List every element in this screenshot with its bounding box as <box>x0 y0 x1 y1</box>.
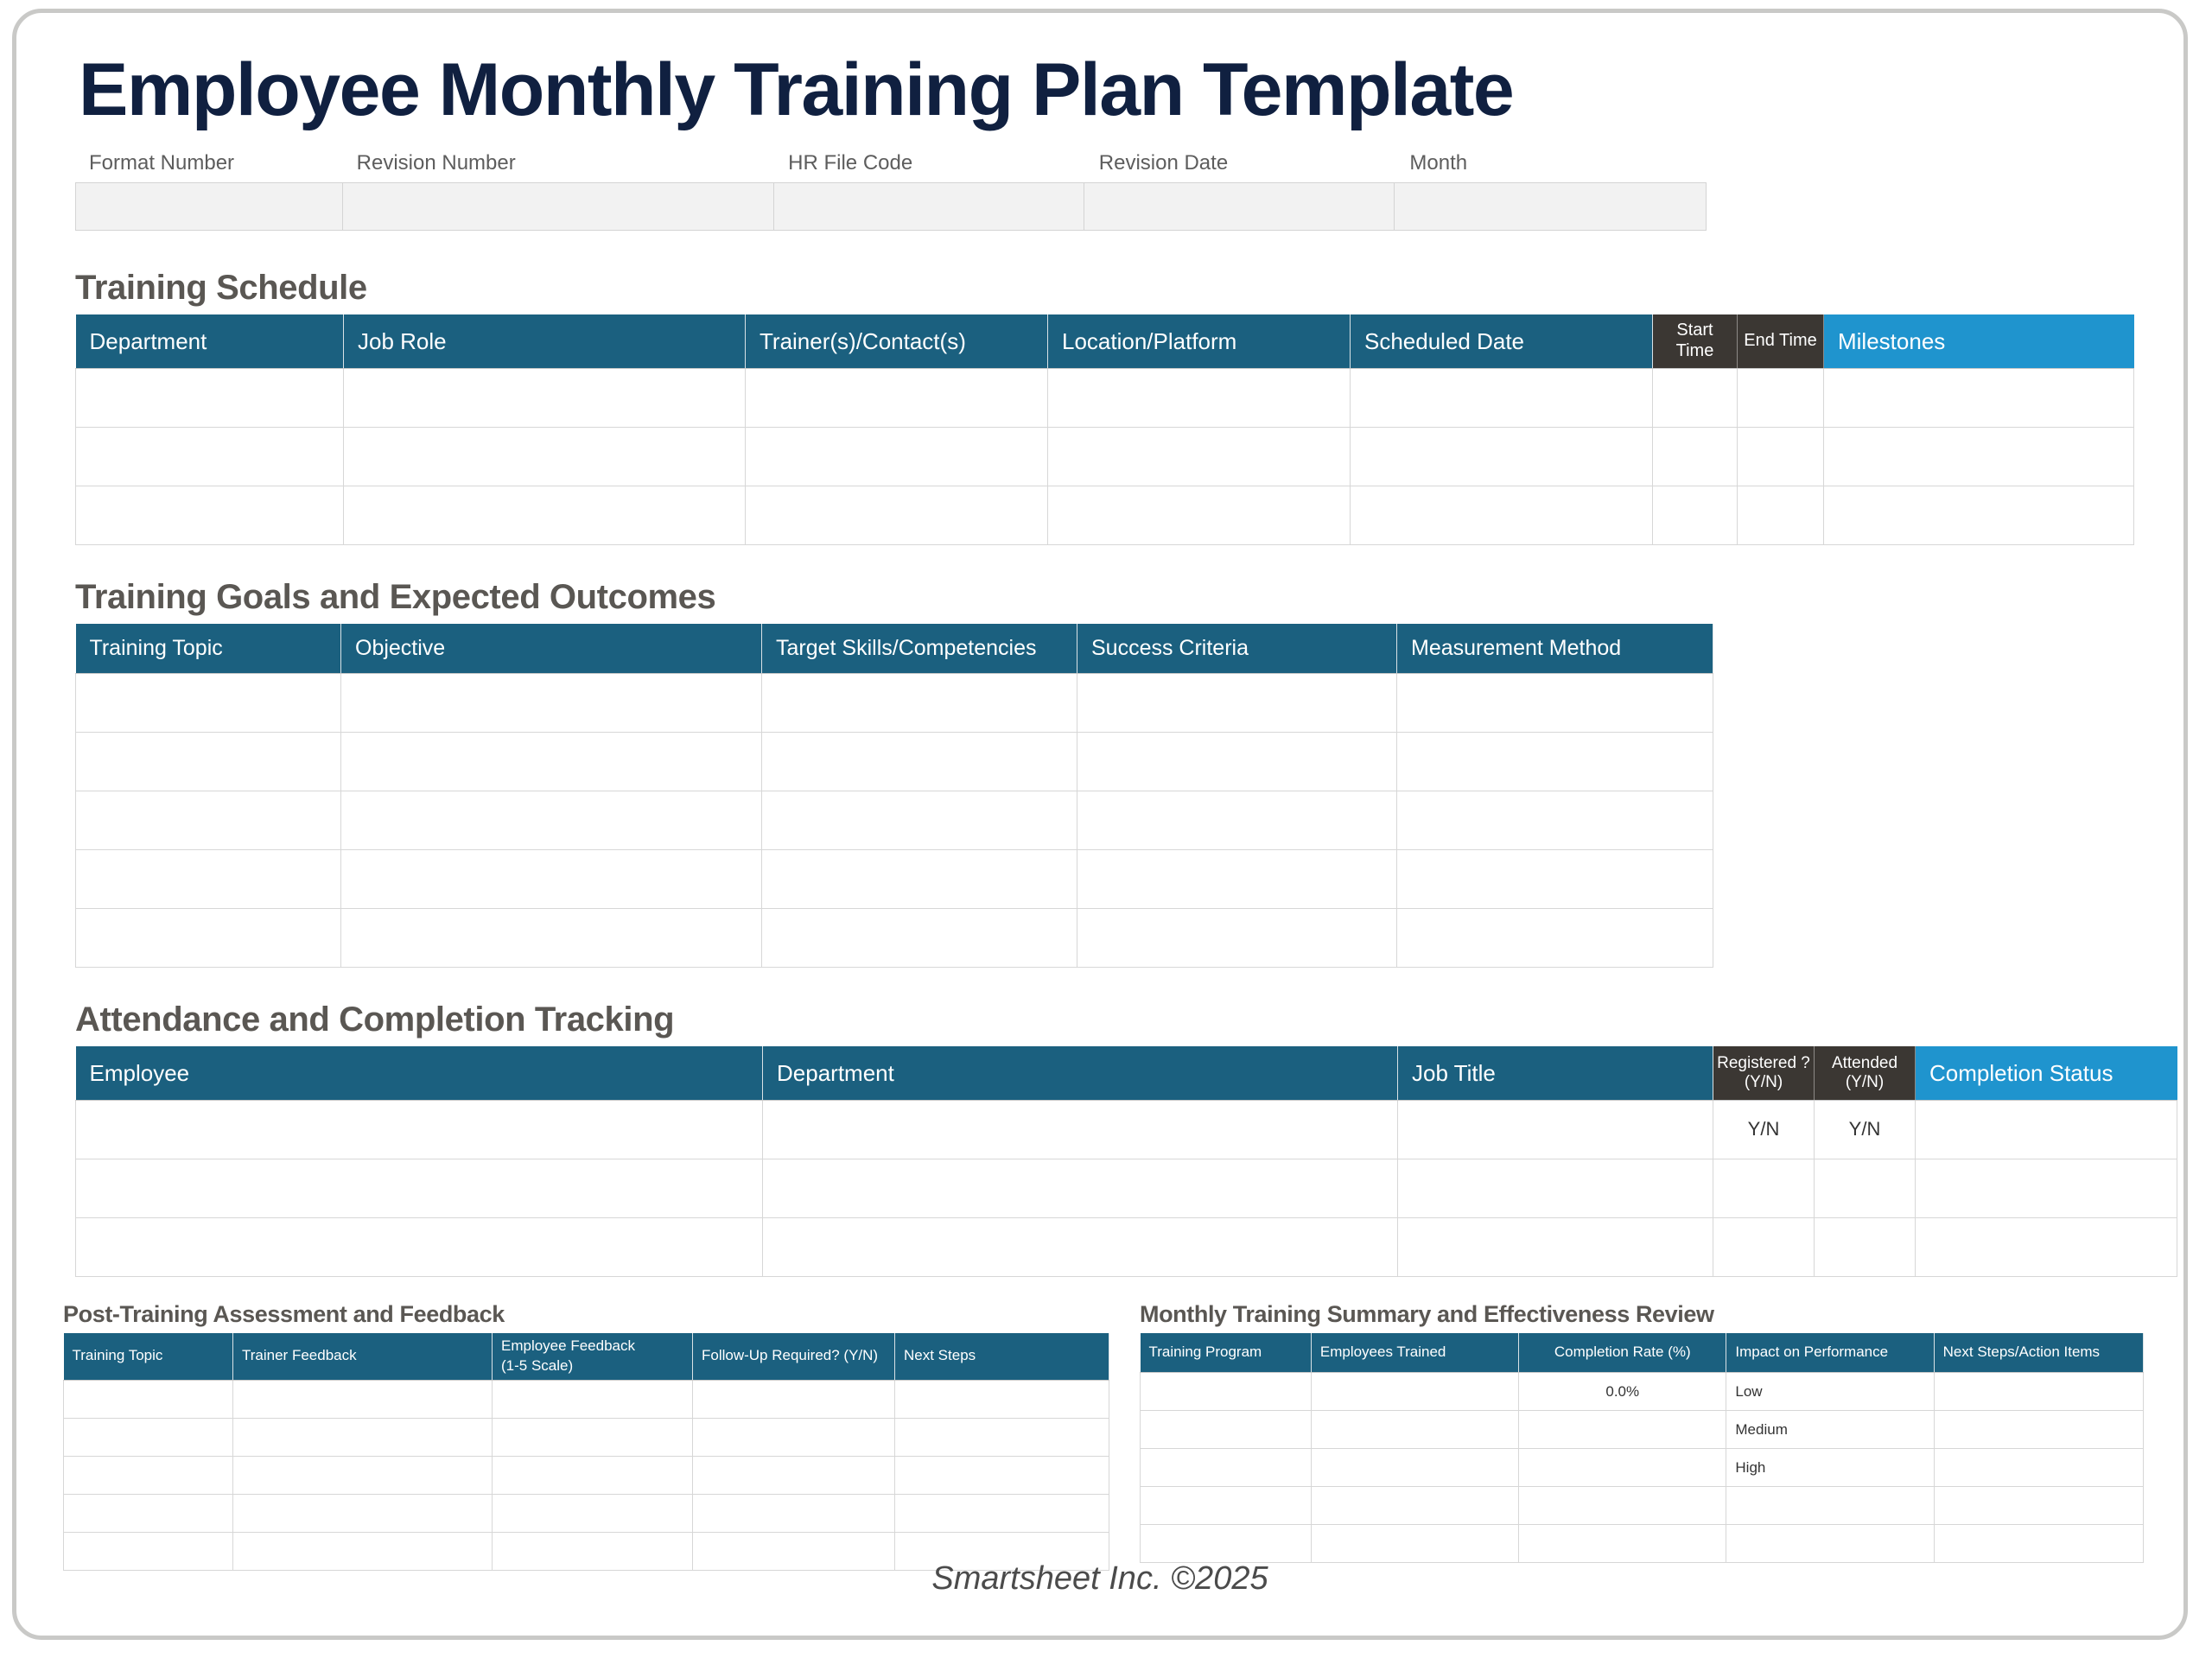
cell[interactable] <box>1077 733 1397 791</box>
monthly-summary-table: Training Program Employees Trained Compl… <box>1140 1333 2144 1564</box>
meta-input-month[interactable] <box>1394 182 1707 231</box>
training-schedule-header-row: Department Job Role Trainer(s)/Contact(s… <box>76 314 2134 368</box>
cell[interactable] <box>64 1456 233 1494</box>
monthly-summary-header-row: Training Program Employees Trained Compl… <box>1141 1333 2144 1373</box>
col-next-steps[interactable]: Next Steps <box>895 1333 1109 1380</box>
cell[interactable] <box>1311 1373 1518 1411</box>
cell[interactable] <box>64 1380 233 1418</box>
cell[interactable] <box>1713 1159 1815 1217</box>
col-milestones[interactable]: Milestones <box>1824 314 2134 368</box>
cell[interactable] <box>341 791 762 850</box>
table-row <box>76 1159 2177 1217</box>
cell[interactable] <box>1398 1159 1713 1217</box>
cell[interactable] <box>1738 486 1824 544</box>
cell[interactable] <box>76 791 341 850</box>
cell-impact-value[interactable]: Low <box>1726 1373 1934 1411</box>
training-goals-table: Training Topic Objective Target Skills/C… <box>75 624 1713 969</box>
monthly-summary-section: Monthly Training Summary and Effectivene… <box>1140 1301 2144 1571</box>
bottom-tables-row: Post-Training Assessment and Feedback Tr… <box>63 1301 2144 1571</box>
cell-impact-value[interactable]: High <box>1726 1449 1934 1487</box>
cell[interactable] <box>1141 1487 1312 1525</box>
col-end-time[interactable]: End Time <box>1738 314 1824 368</box>
table-header-row: Training Program Employees Trained Compl… <box>1141 1333 2144 1373</box>
cell[interactable] <box>1934 1373 2143 1411</box>
col-completion-status[interactable]: Completion Status <box>1916 1046 2177 1100</box>
cell[interactable] <box>1653 486 1738 544</box>
cell[interactable] <box>64 1418 233 1456</box>
cell[interactable] <box>1398 1217 1713 1276</box>
cell[interactable] <box>762 850 1077 909</box>
meta-field-labels: Format Number Revision Number HR File Co… <box>75 151 1708 175</box>
cell-completion-rate-value[interactable]: 0.0% <box>1519 1373 1726 1411</box>
col-employee-feedback[interactable]: Employee Feedback (1-5 Scale) <box>493 1333 693 1380</box>
col-start-time[interactable]: Start Time <box>1653 314 1738 368</box>
section-heading-monthly-summary: Monthly Training Summary and Effectivene… <box>1140 1301 2144 1328</box>
cell[interactable] <box>76 1159 763 1217</box>
cell[interactable] <box>1713 1217 1815 1276</box>
col-employees-trained[interactable]: Employees Trained <box>1311 1333 1518 1373</box>
col-registered-yn[interactable]: Registered ? (Y/N) <box>1713 1046 1815 1100</box>
cell[interactable] <box>763 1100 1398 1159</box>
cell[interactable] <box>1048 486 1351 544</box>
cell[interactable] <box>1815 1159 1916 1217</box>
cell[interactable] <box>1311 1449 1518 1487</box>
cell[interactable] <box>1519 1487 1726 1525</box>
table-row <box>64 1494 1109 1532</box>
cell[interactable] <box>1398 1100 1713 1159</box>
section-heading-attendance: Attendance and Completion Tracking <box>75 1001 2144 1039</box>
training-schedule-body <box>76 368 2134 544</box>
cell[interactable] <box>1077 909 1397 968</box>
col-department[interactable]: Department <box>763 1046 1398 1100</box>
table-row <box>76 791 1713 850</box>
cell[interactable] <box>233 1456 493 1494</box>
post-training-body <box>64 1380 1109 1570</box>
meta-field-inputs <box>75 182 1708 231</box>
col-scheduled-date[interactable]: Scheduled Date <box>1351 314 1653 368</box>
document-page: Employee Monthly Training Plan Template … <box>12 9 2188 1640</box>
cell[interactable] <box>76 1100 763 1159</box>
cell[interactable] <box>762 909 1077 968</box>
table-row <box>76 486 2134 544</box>
cell[interactable] <box>493 1456 693 1494</box>
cell[interactable] <box>1397 674 1713 733</box>
cell[interactable] <box>895 1456 1109 1494</box>
cell[interactable] <box>746 427 1048 486</box>
cell[interactable] <box>493 1494 693 1532</box>
table-header-row: Training Topic Trainer Feedback Employee… <box>64 1333 1109 1380</box>
meta-fields: Format Number Revision Number HR File Co… <box>75 151 1708 231</box>
cell-attended-value[interactable]: Y/N <box>1815 1100 1916 1159</box>
cell[interactable] <box>1141 1373 1312 1411</box>
cell[interactable] <box>493 1418 693 1456</box>
col-impact-on-performance[interactable]: Impact on Performance <box>1726 1333 1934 1373</box>
col-department[interactable]: Department <box>76 314 344 368</box>
cell[interactable] <box>1351 368 1653 427</box>
meta-label-revision-number: Revision Number <box>343 151 774 175</box>
cell[interactable] <box>895 1418 1109 1456</box>
cell[interactable] <box>1141 1411 1312 1449</box>
cell[interactable] <box>895 1380 1109 1418</box>
cell[interactable] <box>1077 791 1397 850</box>
cell[interactable] <box>344 368 746 427</box>
cell[interactable] <box>1519 1411 1726 1449</box>
cell[interactable] <box>1934 1449 2143 1487</box>
meta-label-month: Month <box>1395 151 1708 175</box>
cell[interactable] <box>341 733 762 791</box>
post-training-table: Training Topic Trainer Feedback Employee… <box>63 1333 1109 1571</box>
attendance-header-row: Employee Department Job Title Registered… <box>76 1046 2177 1100</box>
cell[interactable] <box>1397 850 1713 909</box>
post-training-header-row: Training Topic Trainer Feedback Employee… <box>64 1333 1109 1380</box>
cell[interactable] <box>76 427 344 486</box>
col-success-criteria[interactable]: Success Criteria <box>1077 624 1397 674</box>
cell[interactable] <box>76 674 341 733</box>
cell[interactable] <box>1934 1525 2143 1563</box>
table-header-row: Training Topic Objective Target Skills/C… <box>76 624 1713 674</box>
col-training-program[interactable]: Training Program <box>1141 1333 1312 1373</box>
cell[interactable] <box>233 1380 493 1418</box>
section-heading-training-schedule: Training Schedule <box>75 269 2144 308</box>
cell[interactable] <box>1311 1525 1518 1563</box>
cell[interactable] <box>1738 368 1824 427</box>
cell[interactable] <box>693 1380 895 1418</box>
cell[interactable] <box>1738 427 1824 486</box>
col-target-skills[interactable]: Target Skills/Competencies <box>762 624 1077 674</box>
cell[interactable] <box>344 427 746 486</box>
meta-input-format-number[interactable] <box>75 182 343 231</box>
cell[interactable] <box>341 850 762 909</box>
cell[interactable] <box>76 1217 763 1276</box>
cell[interactable] <box>1934 1411 2143 1449</box>
cell[interactable] <box>762 791 1077 850</box>
cell[interactable] <box>493 1380 693 1418</box>
cell[interactable] <box>762 733 1077 791</box>
cell[interactable] <box>1397 909 1713 968</box>
cell[interactable] <box>1351 486 1653 544</box>
cell[interactable] <box>1824 486 2134 544</box>
cell[interactable] <box>1077 850 1397 909</box>
cell[interactable] <box>76 909 341 968</box>
cell[interactable] <box>1726 1487 1934 1525</box>
meta-label-format-number: Format Number <box>75 151 343 175</box>
monthly-summary-body: 0.0% Low Medium <box>1141 1373 2144 1563</box>
table-row <box>1141 1525 2144 1563</box>
section-heading-training-goals: Training Goals and Expected Outcomes <box>75 578 2144 617</box>
cell[interactable] <box>76 850 341 909</box>
cell[interactable] <box>1351 427 1653 486</box>
table-row <box>76 427 2134 486</box>
col-training-topic[interactable]: Training Topic <box>64 1333 233 1380</box>
cell[interactable] <box>76 486 344 544</box>
meta-label-hr-file-code: HR File Code <box>774 151 1085 175</box>
cell[interactable] <box>1916 1100 2177 1159</box>
page-title: Employee Monthly Training Plan Template <box>79 51 2144 129</box>
cell[interactable] <box>1519 1449 1726 1487</box>
table-header-row: Employee Department Job Title Registered… <box>76 1046 2177 1100</box>
cell[interactable] <box>1397 733 1713 791</box>
cell[interactable] <box>1141 1525 1312 1563</box>
col-job-title[interactable]: Job Title <box>1398 1046 1713 1100</box>
cell[interactable] <box>746 368 1048 427</box>
cell[interactable] <box>1519 1525 1726 1563</box>
training-goals-header-row: Training Topic Objective Target Skills/C… <box>76 624 1713 674</box>
page-content: Employee Monthly Training Plan Template … <box>16 13 2183 1636</box>
cell[interactable] <box>1048 427 1351 486</box>
meta-input-revision-number[interactable] <box>342 182 774 231</box>
col-training-topic[interactable]: Training Topic <box>76 624 341 674</box>
cell[interactable] <box>693 1418 895 1456</box>
cell[interactable] <box>233 1494 493 1532</box>
table-row: Medium <box>1141 1411 2144 1449</box>
table-row <box>64 1456 1109 1494</box>
table-row <box>76 909 1713 968</box>
footer-copyright: Smartsheet Inc. ©2025 <box>16 1560 2183 1598</box>
table-row <box>76 674 1713 733</box>
cell[interactable] <box>1077 674 1397 733</box>
col-objective[interactable]: Objective <box>341 624 762 674</box>
cell-registered-value[interactable]: Y/N <box>1713 1100 1815 1159</box>
cell[interactable] <box>693 1456 895 1494</box>
cell[interactable] <box>1653 368 1738 427</box>
cell[interactable] <box>1934 1487 2143 1525</box>
cell[interactable] <box>341 674 762 733</box>
table-row <box>76 368 2134 427</box>
cell[interactable] <box>1916 1159 2177 1217</box>
cell-impact-value[interactable]: Medium <box>1726 1411 1934 1449</box>
col-job-role[interactable]: Job Role <box>344 314 746 368</box>
cell[interactable] <box>1916 1217 2177 1276</box>
cell[interactable] <box>1311 1411 1518 1449</box>
attendance-table: Employee Department Job Title Registered… <box>75 1046 2177 1277</box>
cell[interactable] <box>1141 1449 1312 1487</box>
cell[interactable] <box>1653 427 1738 486</box>
cell[interactable] <box>1815 1217 1916 1276</box>
table-row <box>64 1380 1109 1418</box>
cell[interactable] <box>233 1418 493 1456</box>
attendance-body: Y/N Y/N <box>76 1100 2177 1276</box>
table-row: 0.0% Low <box>1141 1373 2144 1411</box>
col-follow-up-required[interactable]: Follow-Up Required? (Y/N) <box>693 1333 895 1380</box>
cell[interactable] <box>1048 368 1351 427</box>
table-row: High <box>1141 1449 2144 1487</box>
col-employee[interactable]: Employee <box>76 1046 763 1100</box>
table-row <box>76 850 1713 909</box>
table-row <box>64 1418 1109 1456</box>
cell[interactable] <box>76 368 344 427</box>
col-trainer-feedback[interactable]: Trainer Feedback <box>233 1333 493 1380</box>
meta-input-revision-date[interactable] <box>1084 182 1395 231</box>
meta-input-hr-file-code[interactable] <box>773 182 1084 231</box>
cell[interactable] <box>895 1494 1109 1532</box>
cell[interactable] <box>693 1494 895 1532</box>
cell[interactable] <box>746 486 1048 544</box>
col-attended-yn[interactable]: Attended (Y/N) <box>1815 1046 1916 1100</box>
section-heading-post-training: Post-Training Assessment and Feedback <box>63 1301 1109 1328</box>
col-completion-rate[interactable]: Completion Rate (%) <box>1519 1333 1726 1373</box>
cell[interactable] <box>1726 1525 1934 1563</box>
post-training-section: Post-Training Assessment and Feedback Tr… <box>63 1301 1109 1571</box>
cell[interactable] <box>76 733 341 791</box>
col-measurement-method[interactable]: Measurement Method <box>1397 624 1713 674</box>
training-schedule-table: Department Job Role Trainer(s)/Contact(s… <box>75 314 2134 545</box>
cell[interactable] <box>344 486 746 544</box>
col-trainers-contacts[interactable]: Trainer(s)/Contact(s) <box>746 314 1048 368</box>
cell[interactable] <box>1311 1487 1518 1525</box>
training-goals-body <box>76 674 1713 968</box>
table-row: Y/N Y/N <box>76 1100 2177 1159</box>
table-row <box>1141 1487 2144 1525</box>
table-row <box>76 1217 2177 1276</box>
col-location-platform[interactable]: Location/Platform <box>1048 314 1351 368</box>
cell[interactable] <box>64 1494 233 1532</box>
cell[interactable] <box>763 1217 1398 1276</box>
col-next-steps-action-items[interactable]: Next Steps/Action Items <box>1934 1333 2143 1373</box>
cell[interactable] <box>341 909 762 968</box>
table-header-row: Department Job Role Trainer(s)/Contact(s… <box>76 314 2134 368</box>
cell[interactable] <box>1397 791 1713 850</box>
cell[interactable] <box>1824 368 2134 427</box>
cell[interactable] <box>763 1159 1398 1217</box>
cell[interactable] <box>762 674 1077 733</box>
meta-label-revision-date: Revision Date <box>1085 151 1396 175</box>
table-row <box>76 733 1713 791</box>
cell[interactable] <box>1824 427 2134 486</box>
